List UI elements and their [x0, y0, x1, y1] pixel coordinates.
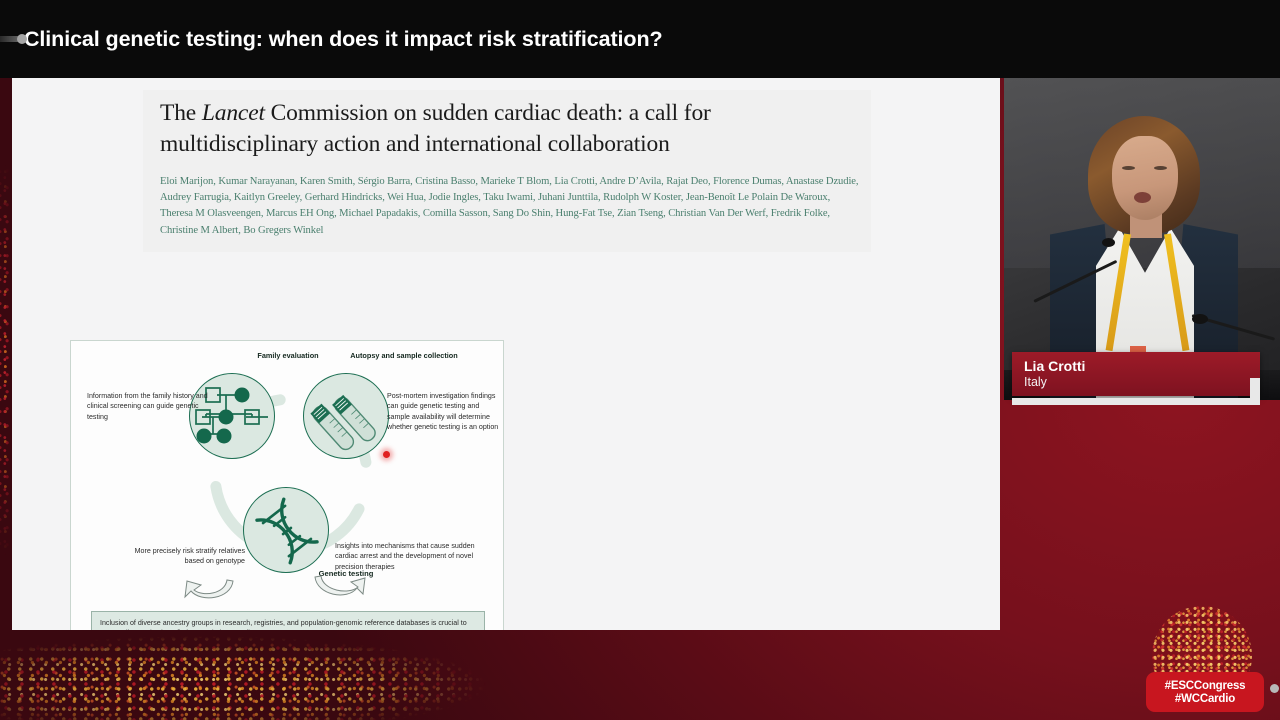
- paper-title-journal: Lancet: [202, 100, 265, 126]
- speaker-eye-left: [1122, 166, 1135, 170]
- figure-note-box: Inclusion of diverse ancestry groups in …: [91, 611, 485, 630]
- speaker-country: Italy: [1024, 375, 1047, 389]
- session-title: Clinical genetic testing: when does it i…: [24, 27, 663, 52]
- curved-arrow-left-icon: [181, 577, 241, 607]
- hashtag-wccardio: #WCCardio: [1175, 693, 1235, 705]
- microphone-head-right: [1192, 314, 1208, 324]
- paper-title: The Lancet Commission on sudden cardiac …: [160, 98, 865, 160]
- microphone-head-left: [1102, 238, 1115, 247]
- speaker-face: [1112, 136, 1178, 220]
- figure-note-text: Inclusion of diverse ancestry groups in …: [100, 618, 478, 630]
- dna-helix-icon: [243, 487, 329, 573]
- figure-heading-family-evaluation: Family evaluation: [233, 351, 343, 361]
- session-header-bar: Clinical genetic testing: when does it i…: [0, 0, 1280, 78]
- presentation-viewer: Clinical genetic testing: when does it i…: [0, 0, 1280, 720]
- figure-text-insights: Insights into mechanisms that cause sudd…: [335, 541, 485, 572]
- hashtag-side-dot: [1270, 684, 1279, 693]
- paper-title-prefix: The: [160, 100, 202, 126]
- speaker-eye-right: [1154, 166, 1167, 170]
- speaker-mouth: [1134, 192, 1151, 203]
- hashtag-esc-congress: #ESCCongress: [1165, 680, 1246, 692]
- sample-tubes-icon: [303, 373, 389, 459]
- speaker-nameplate: Lia Crotti Italy: [1012, 352, 1260, 396]
- slide-canvas[interactable]: The Lancet Commission on sudden cardiac …: [12, 78, 1000, 630]
- speaker-name: Lia Crotti: [1024, 358, 1085, 374]
- paper-authors: Eloi Marijon, Kumar Narayanan, Karen Smi…: [160, 174, 865, 239]
- figure-panel: Family evaluation Autopsy and sample col…: [70, 340, 504, 630]
- nameplate-bottom-strip: [1012, 398, 1260, 405]
- laser-pointer-dot: [383, 451, 390, 458]
- hashtag-badge: #ESCCongress #WCCardio: [1146, 672, 1264, 712]
- curved-arrow-right-icon: [307, 575, 369, 605]
- figure-heading-autopsy: Autopsy and sample collection: [349, 351, 459, 361]
- figure-text-family: Information from the family history and …: [87, 391, 211, 422]
- slide-progress-marker-icon[interactable]: [0, 36, 24, 42]
- decorative-particles-bottom: [0, 615, 560, 720]
- figure-text-relatives: More precisely risk stratify relatives b…: [119, 546, 245, 567]
- figure-text-autopsy: Post-mortem investigation findings can g…: [387, 391, 499, 432]
